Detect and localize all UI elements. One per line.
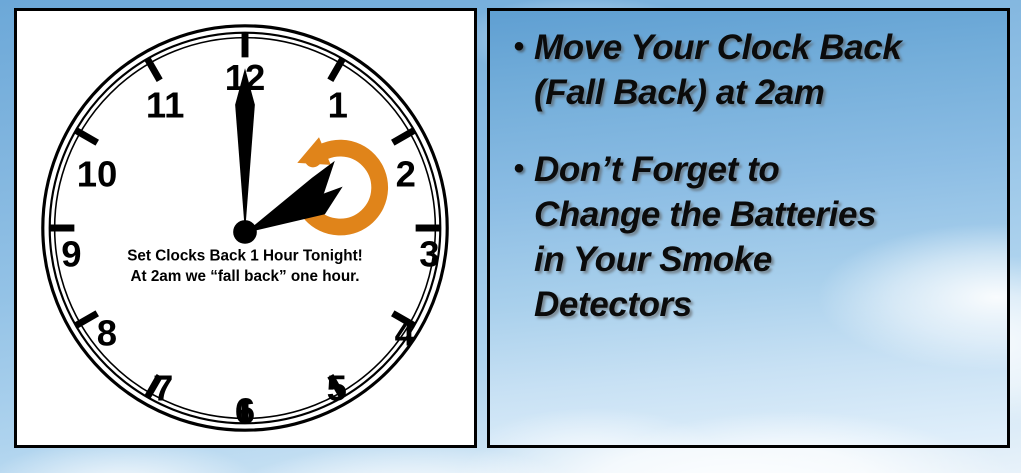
bullet-text-1: Move Your Clock Back (Fall Back) at 2am [534,25,901,115]
clock-numeral-9: 9 [61,233,81,274]
bullet-item-1: • Move Your Clock Back (Fall Back) at 2a… [504,25,997,115]
clock-numeral-3: 3 [419,233,439,274]
clock-numeral-1: 1 [328,85,348,126]
bullet-text-2: Don’t Forget to Change the Batteries in … [534,147,876,327]
slide-canvas: 12 1 2 3 4 5 6 7 8 9 10 11 Set [0,0,1021,473]
clock-caption-line-2: At 2am we “fall back” one hour. [130,268,359,285]
clock-numeral-8: 8 [97,312,117,353]
clock-numeral-10: 10 [77,154,118,195]
clock-center-pin [233,220,257,244]
clock-numeral-5: 5 [327,368,347,409]
clock-panel: 12 1 2 3 4 5 6 7 8 9 10 11 Set [14,8,477,448]
bullet-item-2: • Don’t Forget to Change the Batteries i… [504,147,997,327]
clock-caption-line-1: Set Clocks Back 1 Hour Tonight! [127,248,363,265]
clock-numeral-11: 11 [146,85,185,126]
clock-numeral-4: 4 [395,312,416,353]
clock-numeral-6: 6 [235,390,255,431]
clock-numeral-7: 7 [153,368,173,409]
clock-numeral-2: 2 [396,154,416,195]
message-panel: • Move Your Clock Back (Fall Back) at 2a… [487,8,1010,448]
bullet-marker-icon: • [504,147,534,191]
bullet-marker-icon: • [504,25,534,69]
bullet-spacer [504,121,997,147]
clock-graphic: 12 1 2 3 4 5 6 7 8 9 10 11 Set [17,11,474,445]
